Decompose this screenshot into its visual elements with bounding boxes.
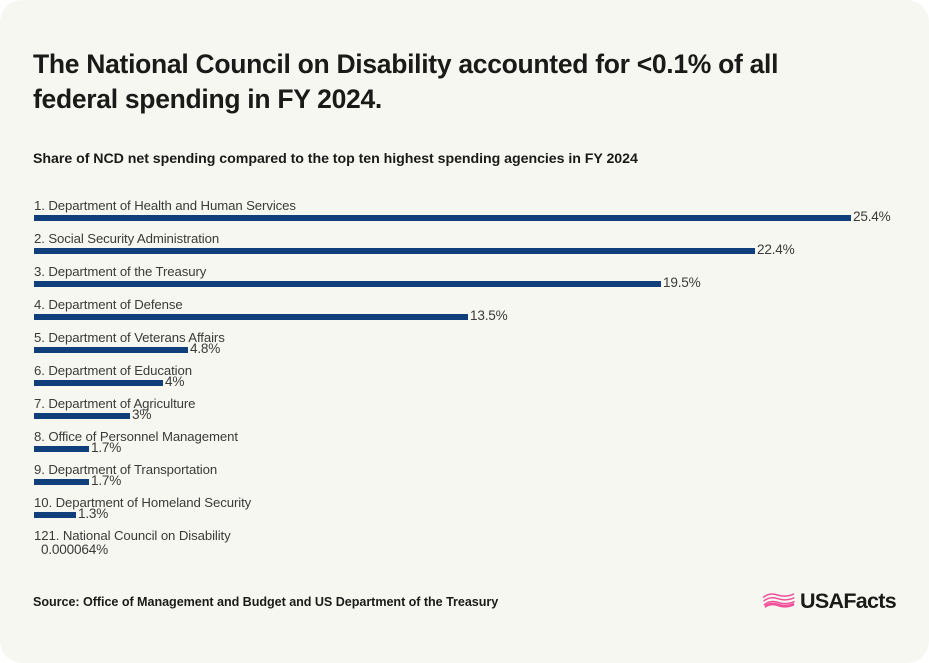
bar-category-label: 1. Department of Health and Human Servic… — [34, 198, 296, 213]
bar — [34, 314, 468, 320]
bar-value-label: 0.000064% — [41, 542, 108, 557]
bar — [34, 215, 851, 221]
bar-row: 7. Department of Agriculture3% — [33, 396, 899, 429]
bar-category-label: 7. Department of Agriculture — [34, 396, 195, 411]
bar-row: 2. Social Security Administration22.4% — [33, 231, 899, 264]
bar-row: 6. Department of Education4% — [33, 363, 899, 396]
chart-subtitle: Share of NCD net spending compared to th… — [33, 151, 833, 167]
bar-value-label: 4% — [165, 374, 184, 389]
bar-category-label: 10. Department of Homeland Security — [34, 495, 251, 510]
bar-row: 8. Office of Personnel Management1.7% — [33, 429, 899, 462]
bar-value-label: 1.7% — [91, 473, 121, 488]
bar-value-label: 22.4% — [757, 242, 795, 257]
bar-row: 3. Department of the Treasury19.5% — [33, 264, 899, 297]
bar-value-label: 4.8% — [190, 341, 220, 356]
bar — [34, 347, 188, 353]
bar-category-label: 121. National Council on Disability — [34, 528, 231, 543]
bar — [34, 281, 661, 287]
page-title: The National Council on Disability accou… — [33, 47, 863, 117]
bar-row: 121. National Council on Disability0.000… — [33, 528, 899, 561]
usafacts-wordmark: USAFacts — [800, 591, 896, 613]
bar-value-label: 1.3% — [78, 506, 108, 521]
horizontal-bar-chart: 1. Department of Health and Human Servic… — [33, 198, 899, 558]
bar-row: 1. Department of Health and Human Servic… — [33, 198, 899, 231]
bar — [34, 479, 89, 485]
bar-row: 4. Department of Defense13.5% — [33, 297, 899, 330]
bar — [34, 446, 89, 452]
usafacts-logo: USAFacts — [762, 590, 896, 614]
bar-category-label: 8. Office of Personnel Management — [34, 429, 238, 444]
bar-category-label: 3. Department of the Treasury — [34, 264, 206, 279]
bar-row: 5. Department of Veterans Affairs4.8% — [33, 330, 899, 363]
bar-category-label: 2. Social Security Administration — [34, 231, 219, 246]
bar-category-label: 9. Department of Transportation — [34, 462, 217, 477]
usafacts-flag-mark — [762, 592, 796, 613]
card-content: The National Council on Disability accou… — [33, 0, 899, 663]
bar — [34, 248, 755, 254]
bar-row: 10. Department of Homeland Security1.3% — [33, 495, 899, 528]
bar-value-label: 3% — [132, 407, 151, 422]
bar — [34, 380, 163, 386]
bar — [34, 413, 130, 419]
bar-value-label: 25.4% — [853, 209, 891, 224]
bar-category-label: 4. Department of Defense — [34, 297, 183, 312]
bar-value-label: 19.5% — [663, 275, 701, 290]
infographic-card: The National Council on Disability accou… — [0, 0, 929, 663]
bar — [34, 512, 76, 518]
bar-value-label: 1.7% — [91, 440, 121, 455]
bar-value-label: 13.5% — [470, 308, 508, 323]
bar-row: 9. Department of Transportation1.7% — [33, 462, 899, 495]
source-note: Source: Office of Management and Budget … — [33, 595, 498, 609]
